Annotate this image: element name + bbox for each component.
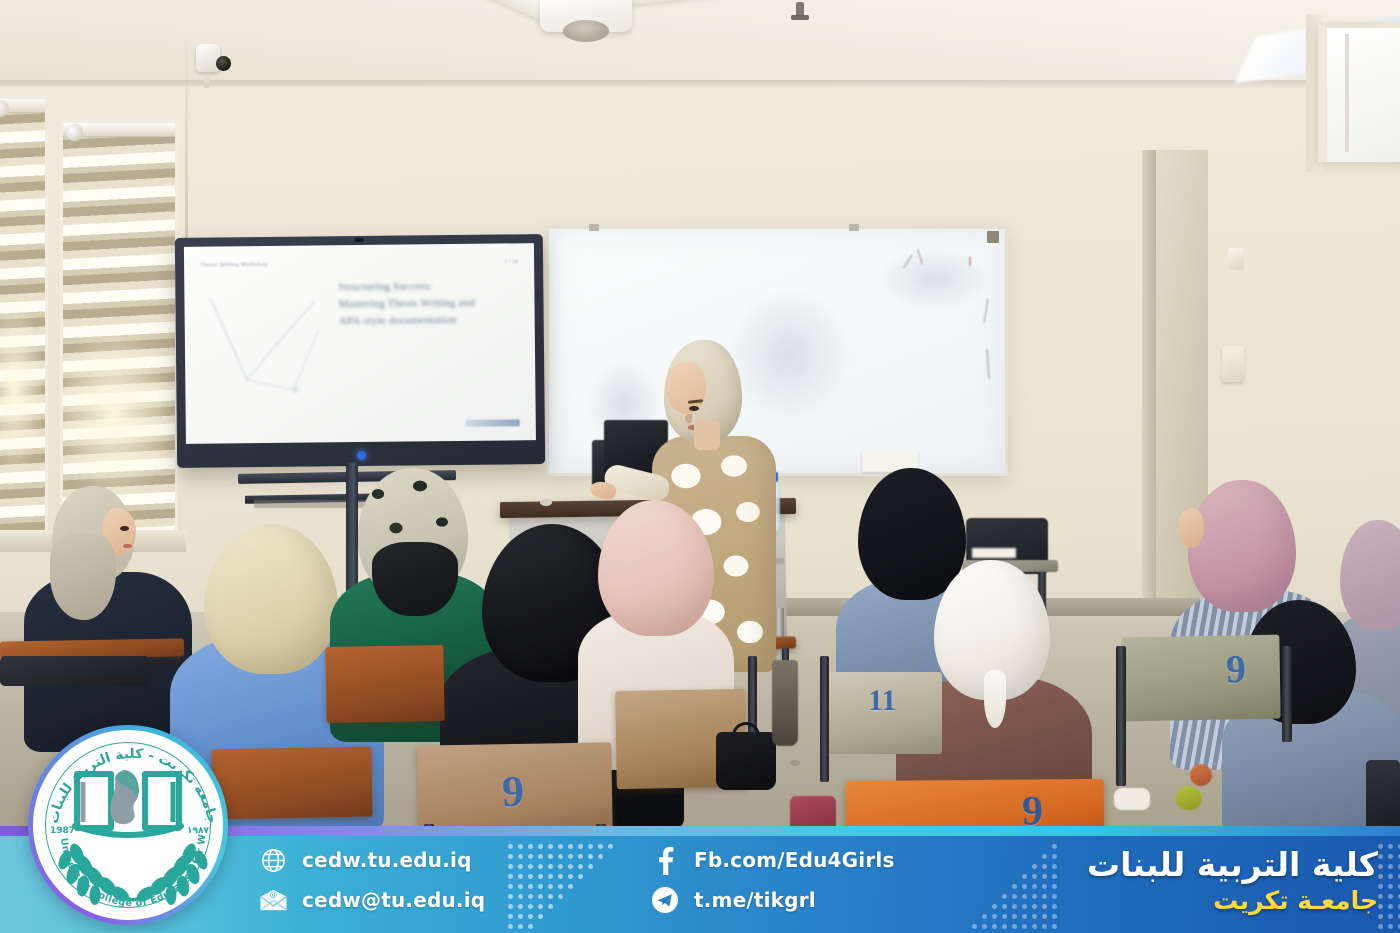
globe-icon — [258, 845, 288, 875]
contacts-social: Fb.com/Edu4Girls t.me/tikgrl — [650, 840, 895, 920]
contact-email[interactable]: @ cedw@tu.edu.iq — [258, 880, 485, 920]
slide-footer-logo — [466, 419, 520, 427]
wall-sensor-icon — [1228, 248, 1244, 270]
slide-page-number: 1 / 24 — [504, 259, 518, 265]
email-icon: @ — [258, 885, 288, 915]
chair-far-right — [1366, 760, 1400, 830]
door-frame — [1142, 150, 1156, 620]
slide-title: Structuring Success: Mastering Thesis Wr… — [338, 278, 475, 331]
facebook-icon — [650, 845, 680, 875]
screenshot-root: Thesis Writing Workshop 1 / 24 Structuri… — [0, 0, 1400, 933]
display-screen: Thesis Writing Workshop 1 / 24 Structuri… — [184, 243, 536, 444]
contact-website[interactable]: cedw.tu.edu.iq — [258, 840, 485, 880]
window-right — [1318, 22, 1400, 162]
website-text: cedw.tu.edu.iq — [302, 848, 472, 872]
slide-title-line-2: Mastering Thesis Writing and — [338, 295, 475, 313]
floor-post — [772, 660, 798, 746]
laurel-wreath-icon — [33, 822, 223, 910]
slide-title-line-1: Structuring Success: — [338, 278, 475, 296]
desk-s3 — [325, 645, 444, 723]
wall-corner — [185, 30, 188, 240]
university-name-arabic: جامعـة تكريت — [1087, 886, 1378, 916]
presenter-neck — [694, 420, 720, 450]
shoe — [1114, 788, 1150, 810]
display-camera-icon — [355, 238, 364, 242]
svg-text:@: @ — [269, 890, 276, 899]
college-logo: جامعة تكريت - كلية التربية للبنات Tikrit… — [28, 725, 228, 925]
handbag — [716, 732, 776, 790]
logo-inner: جامعة تكريت - كلية التربية للبنات Tikrit… — [33, 730, 223, 920]
email-text: cedw@tu.edu.iq — [302, 888, 485, 912]
telegram-icon — [650, 885, 680, 915]
desk-s2 — [211, 747, 372, 820]
wall-switch-box — [1222, 346, 1244, 382]
security-camera-icon — [196, 44, 236, 88]
desk-number-9-right: 9 — [1225, 645, 1246, 692]
presenter-face — [666, 362, 706, 414]
college-name-arabic: كلية التربية للبنات — [1087, 846, 1378, 884]
contact-telegram[interactable]: t.me/tikgrl — [650, 880, 895, 920]
contacts-web: cedw.tu.edu.iq @ cedw@tu.edu.iq — [258, 840, 485, 920]
facebook-text: Fb.com/Edu4Girls — [694, 848, 895, 872]
desk-number-11: 11 — [868, 684, 896, 718]
desk-number-9: 9 — [502, 766, 525, 817]
floor-object — [1176, 786, 1202, 810]
mouse-icon — [540, 499, 552, 506]
slide-header: Thesis Writing Workshop — [200, 262, 268, 269]
slide-graphic — [206, 293, 337, 414]
arabic-branding: كلية التربية للبنات جامعـة تكريت — [1087, 846, 1378, 916]
telegram-text: t.me/tikgrl — [694, 888, 816, 912]
ceiling-fan-icon — [402, 0, 732, 94]
window-left-outer — [0, 96, 48, 536]
desk-left-support — [0, 656, 150, 686]
display-power-led-icon — [357, 451, 366, 460]
slide-title-line-3: APA-style documentation — [339, 312, 476, 330]
floor-object — [1190, 764, 1212, 786]
interactive-display[interactable]: Thesis Writing Workshop 1 / 24 Structuri… — [175, 234, 545, 468]
desk-11: 11 — [826, 672, 942, 754]
contact-facebook[interactable]: Fb.com/Edu4Girls — [650, 840, 895, 880]
desk-right-9: 9 — [1121, 635, 1280, 722]
ceiling-hook — [796, 2, 804, 18]
